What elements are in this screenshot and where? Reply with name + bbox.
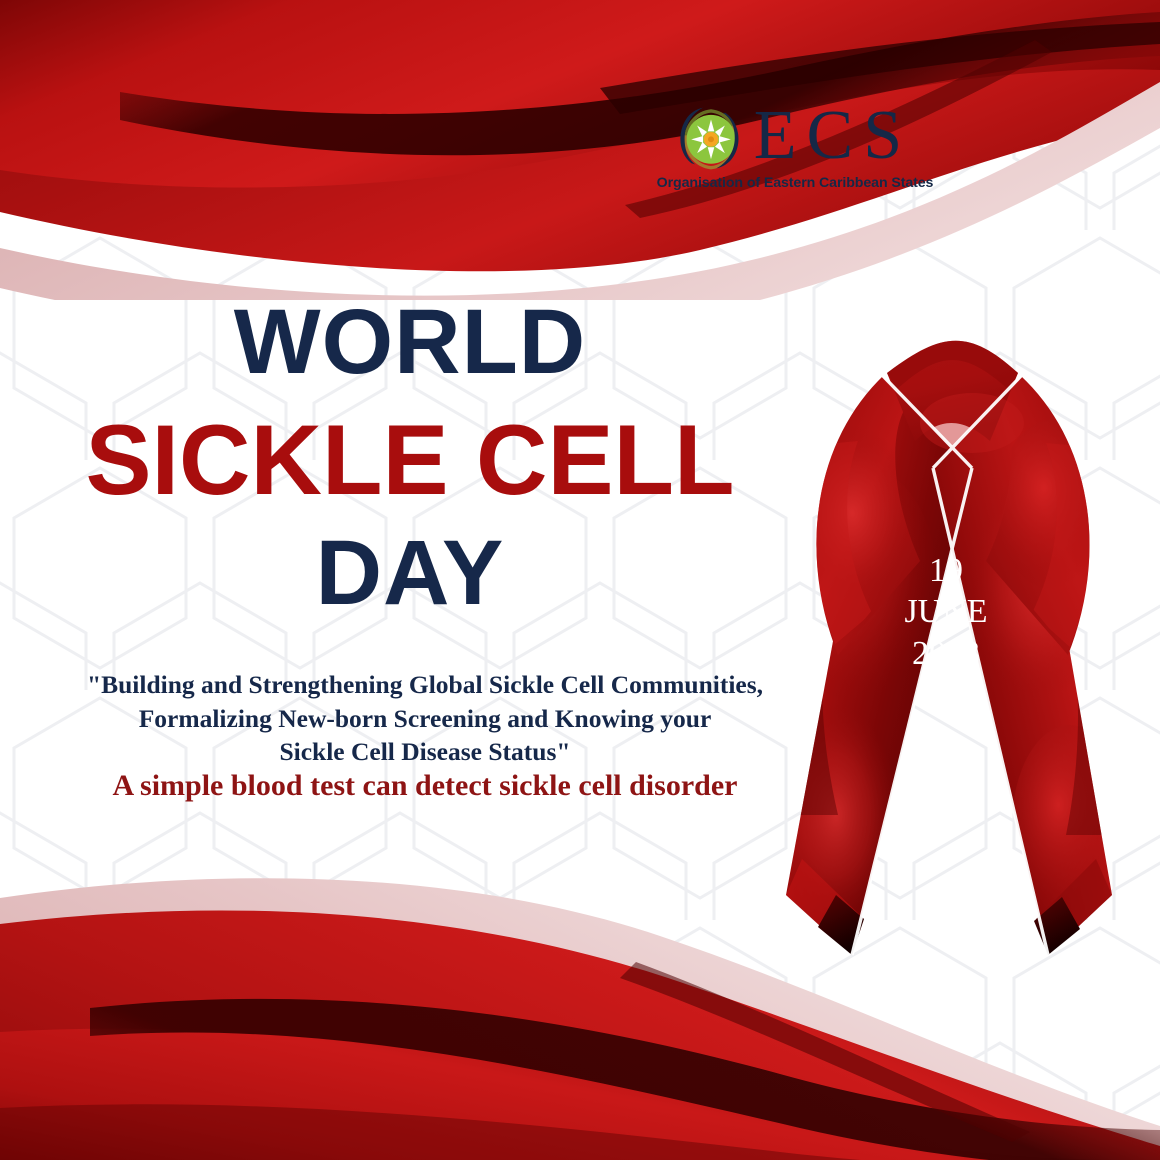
headline-line-day: DAY <box>0 527 820 619</box>
ribbon-date-year: 2023 <box>882 633 1010 674</box>
headline-line-sickle-cell: SICKLE CELL <box>0 410 820 509</box>
logo-letters: ECS <box>746 103 912 174</box>
headline-line-world: WORLD <box>0 296 820 388</box>
ribbon-date-text: 19 JUNE 2023 <box>882 550 1010 674</box>
theme-line-3: Sickle Cell Disease Status" <box>20 735 830 769</box>
headline-block: WORLD SICKLE CELL DAY <box>0 296 820 619</box>
theme-line-2: Formalizing New-born Screening and Knowi… <box>20 702 830 736</box>
ribbon-date-month: JUNE <box>882 591 1010 632</box>
bottom-red-wave-band <box>0 840 1160 1160</box>
logo-subtitle: Organisation of Eastern Caribbean States <box>657 175 934 191</box>
logo-row: ECS <box>678 103 912 174</box>
poster-canvas: 19 JUNE 2023 <box>0 0 1160 1160</box>
oecs-sun-circle-logo-icon <box>678 105 744 171</box>
theme-line-1: "Building and Strengthening Global Sickl… <box>20 668 830 702</box>
top-red-wave-band <box>0 0 1160 300</box>
oecs-logo: ECS Organisation of Eastern Caribbean St… <box>660 103 930 191</box>
theme-statement: "Building and Strengthening Global Sickl… <box>20 668 830 769</box>
ribbon-date-day: 19 <box>882 550 1010 591</box>
tagline-text: A simple blood test can detect sickle ce… <box>20 768 830 804</box>
